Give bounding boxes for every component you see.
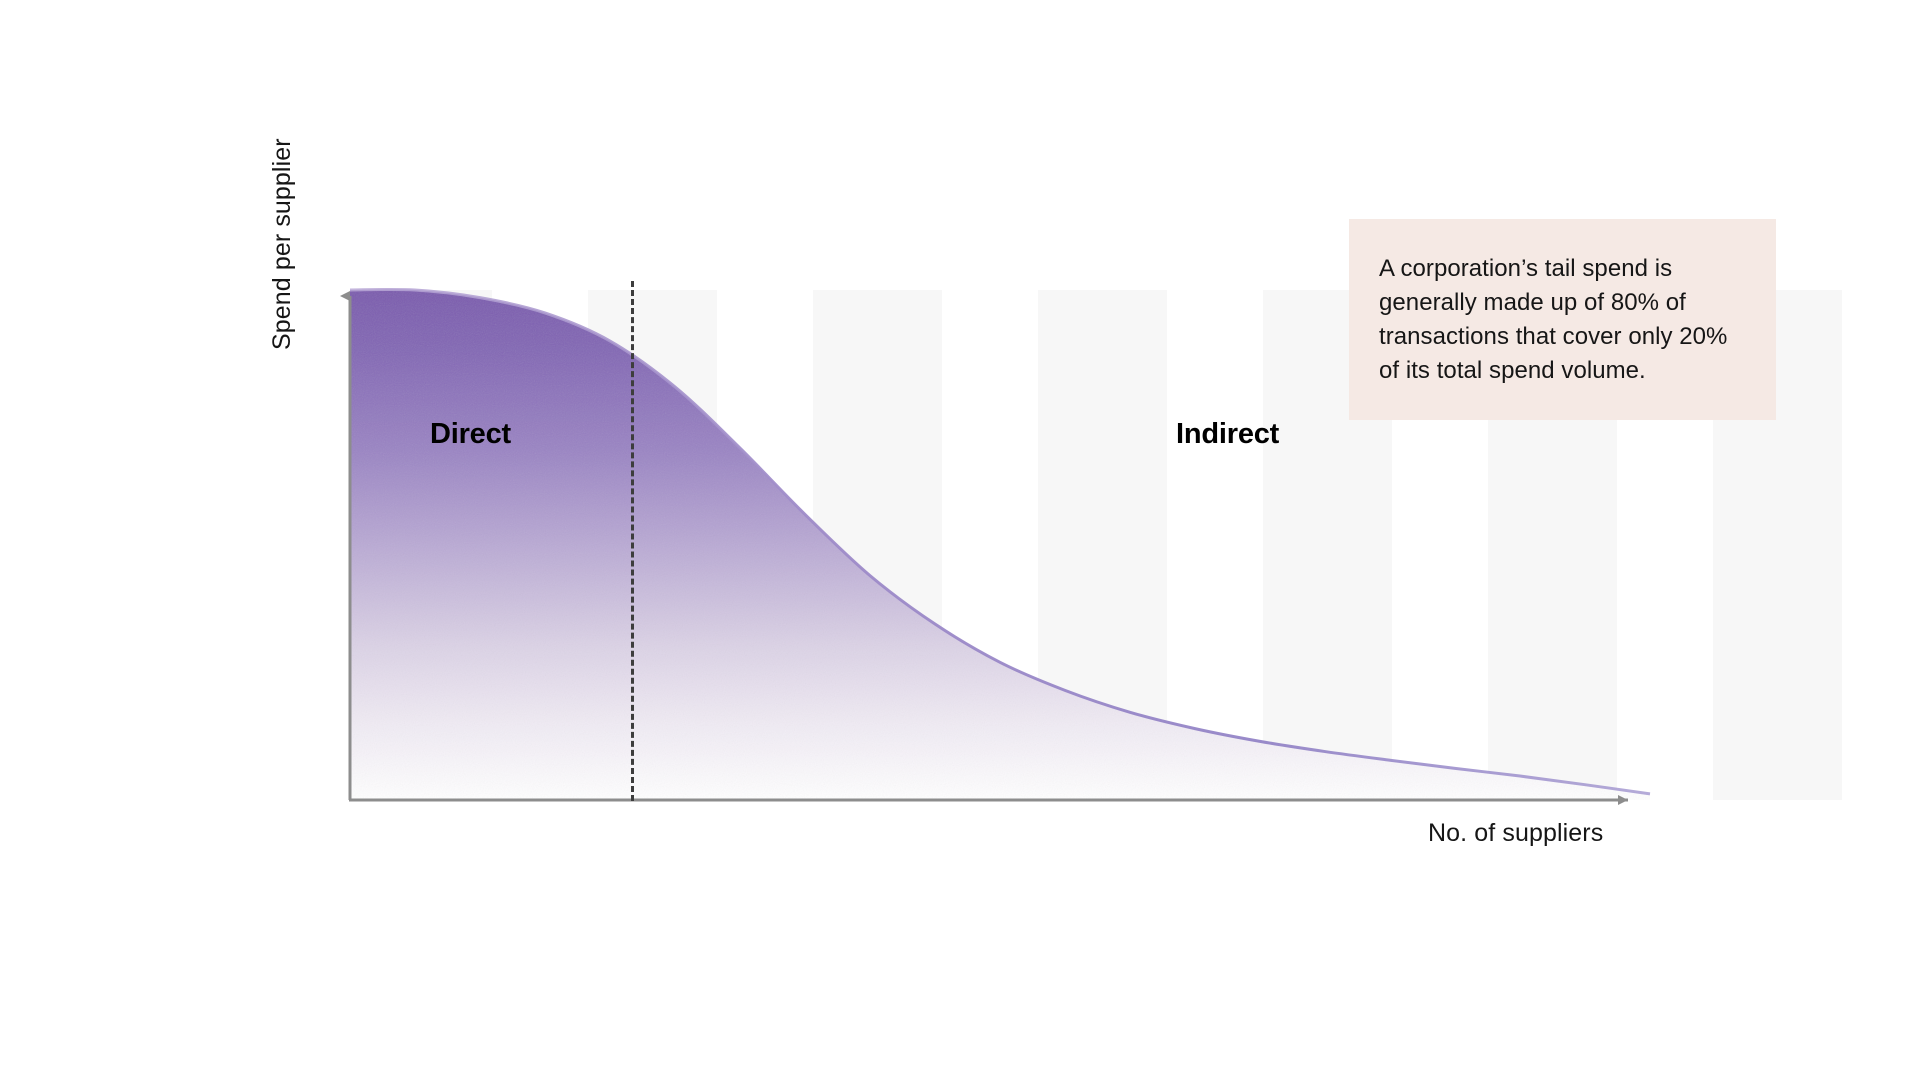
tail-spend-callout: A corporation’s tail spend is generally … [1349, 219, 1776, 420]
x-axis-label: No. of suppliers [1428, 819, 1603, 848]
callout-text: A corporation’s tail spend is generally … [1379, 252, 1746, 388]
direct-indirect-divider [631, 281, 634, 801]
y-axis-label: Spend per supplier [262, 50, 302, 350]
label-indirect: Indirect [1176, 418, 1279, 451]
chart-canvas: Spend per supplier No. of suppliers Dire… [0, 0, 1920, 1080]
label-direct: Direct [430, 418, 511, 451]
